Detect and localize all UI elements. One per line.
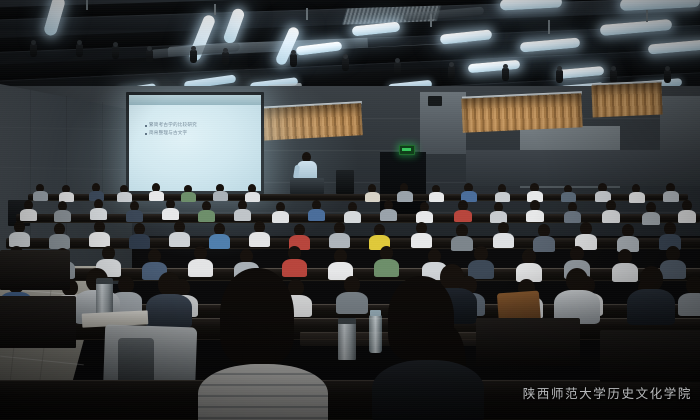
desk-edge-highlight: [0, 380, 700, 381]
slide-bullet-text: 繁简考古学的比较研究: [149, 123, 197, 128]
spotlight: [556, 70, 563, 83]
slide-bullet-1: 繁简考古学的比较研究: [145, 123, 197, 128]
spotlight: [290, 54, 297, 67]
light-stem: [214, 4, 216, 15]
slide-bullet-2: 简帛整理与古文字: [145, 131, 187, 136]
projection-screen-header-band: [129, 95, 261, 105]
head: [566, 268, 588, 292]
spotlight: [76, 44, 83, 57]
spotlight: [394, 62, 401, 75]
thermos-cap: [338, 318, 356, 324]
window-curtain: [591, 83, 662, 118]
watermark-text: 陕西师范大学历史文化学院: [523, 383, 692, 402]
window-curtain: [461, 93, 582, 132]
water-bottle: [369, 315, 382, 353]
light-stem: [86, 0, 88, 10]
ceiling: [0, 0, 700, 96]
light-stem: [646, 10, 648, 22]
seat-back: [476, 318, 580, 366]
torso: [146, 294, 192, 328]
wall-speaker: [428, 96, 442, 106]
water-bottle-cap: [370, 310, 381, 316]
wall-panel-dark: [466, 150, 700, 186]
projection-screen: 繁简考古学的比较研究 简帛整理与古文字: [129, 105, 261, 191]
spotlight: [146, 50, 153, 63]
seat-back: [0, 250, 70, 290]
torso: [627, 289, 675, 325]
bullet-marker-icon: [145, 133, 147, 135]
spotlight: [222, 52, 229, 65]
spotlight: [112, 46, 119, 59]
seat-back: [600, 330, 700, 382]
head: [158, 272, 180, 296]
light-stem: [548, 20, 550, 34]
spotlight: [448, 66, 455, 79]
seat-back: [0, 296, 76, 348]
slide-bullet-text: 简帛整理与古文字: [149, 131, 187, 136]
light-stem: [430, 14, 432, 27]
light-stem: [306, 8, 308, 20]
dark-top: [372, 360, 484, 420]
wall-panel-light: [420, 92, 466, 154]
spotlight: [342, 58, 349, 71]
spotlight: [502, 68, 509, 81]
emergency-exit-sign: [399, 145, 415, 155]
spotlight: [610, 70, 617, 83]
lecture-hall-photo: 繁简考古学的比较研究 简帛整理与古文字: [0, 0, 700, 420]
head: [640, 266, 663, 291]
spotlight: [664, 70, 671, 83]
wall-panel-light: [660, 96, 700, 152]
spotlight: [190, 50, 197, 63]
spotlight: [30, 44, 37, 57]
thermos-cap: [96, 278, 113, 284]
thermos-flask: [338, 322, 356, 360]
striped-top: [198, 364, 328, 420]
bullet-marker-icon: [145, 125, 147, 127]
window-curtain: [257, 103, 363, 141]
